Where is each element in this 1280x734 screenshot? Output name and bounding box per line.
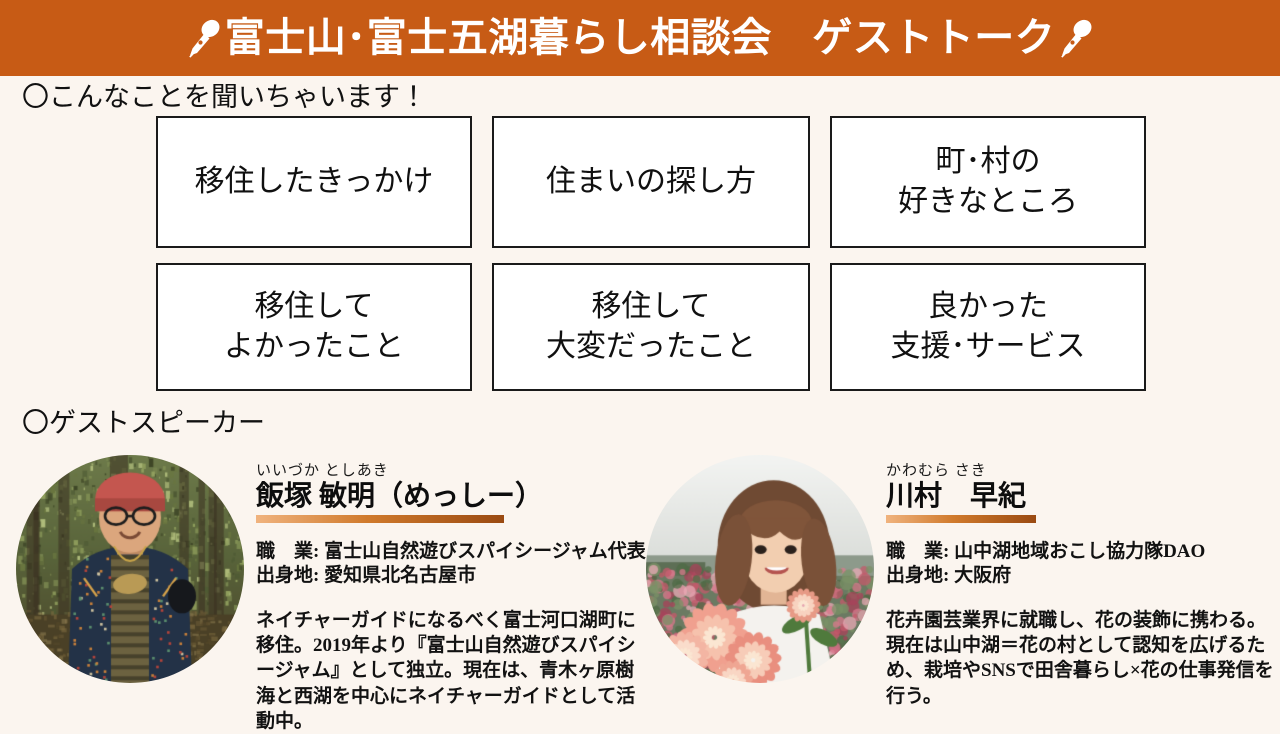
origin-label: 出身地: [886,565,949,586]
topic-box-0: 移住したきっかけ [156,116,472,248]
topic-box-3: 移住して よかったこと [156,263,472,391]
avatar-photo-flowerfield [646,455,874,683]
topic-box-label: 町･村の 好きなところ [898,142,1078,223]
name-underline-bar [886,515,1036,523]
topic-box-1: 住まいの探し方 [492,116,810,248]
speaker-name: 川村 早紀 [886,481,1280,513]
occupation-value: 山中湖地域おこし協力隊DAO [954,541,1205,562]
speaker-name: 飯塚 敏明（めっしー） [256,481,656,513]
topic-box-label: 住まいの探し方 [546,162,756,203]
speaker-meta-0: 職 業: 富士山自然遊びスパイシージャム代表 出身地: 愛知県北名古屋市 [256,540,656,589]
topic-box-label: 移住したきっかけ [195,162,434,203]
speaker-info-1: かわむら さき 川村 早紀 職 業: 山中湖地域おこし協力隊DAO 出身地: 大… [886,463,1280,709]
microphone-icon-right [1059,18,1093,58]
topic-box-grid: 移住したきっかけ 住まいの探し方 町･村の 好きなところ 移住して よかったこと… [156,116,1146,391]
page-title: 富士山･富士五湖暮らし相談会 ゲストトーク [225,18,1056,58]
origin-row: 出身地: 愛知県北名古屋市 [256,564,656,588]
speaker-bio: 花卉園芸業界に就職し、花の装飾に携わる。現在は山中湖＝花の村として認知を広げるた… [886,608,1276,708]
topics-section-heading: 〇こんなことを聞いちゃいます！ [22,84,427,111]
topic-box-2: 町･村の 好きなところ [830,116,1146,248]
occupation-label: 職 業: [886,541,949,562]
occupation-label: 職 業: [256,541,319,562]
occupation-row: 職 業: 富士山自然遊びスパイシージャム代表 [256,540,656,564]
speaker-meta-1: 職 業: 山中湖地域おこし協力隊DAO 出身地: 大阪府 [886,540,1280,589]
occupation-value: 富士山自然遊びスパイシージャム代表 [324,541,646,562]
speaker-furigana: かわむら さき [886,463,1280,480]
speaker-info-0: いいづか としあき 飯塚 敏明（めっしー） 職 業: 富士山自然遊びスパイシージ… [256,463,656,734]
origin-row: 出身地: 大阪府 [886,564,1280,588]
avatar-photo-forest [16,455,244,683]
topic-box-5: 良かった 支援･サービス [830,263,1146,391]
topic-box-label: 移住して 大変だったこと [546,287,756,368]
slide-root: 富士山･富士五湖暮らし相談会 ゲストトーク 〇こんなことを聞いちゃいます！ 移住… [0,0,1280,720]
occupation-row: 職 業: 山中湖地域おこし協力隊DAO [886,540,1280,564]
name-underline-bar [256,515,504,523]
origin-value: 大阪府 [954,565,1011,586]
speaker-bio: ネイチャーガイドになるべく富士河口湖町に移住。2019年より『富士山自然遊びスパ… [256,608,651,733]
topic-box-label: 移住して よかったこと [224,287,404,368]
header-bar: 富士山･富士五湖暮らし相談会 ゲストトーク [0,0,1280,76]
speakers-section-heading: 〇ゲストスピーカー [22,410,265,437]
speaker-avatar-0 [16,455,244,683]
header-inner: 富士山･富士五湖暮らし相談会 ゲストトーク [187,18,1094,58]
origin-value: 愛知県北名古屋市 [324,565,476,586]
microphone-icon-left [187,18,221,58]
speaker-avatar-1 [646,455,874,683]
topic-box-4: 移住して 大変だったこと [492,263,810,391]
speaker-furigana: いいづか としあき [256,463,656,480]
topic-box-label: 良かった 支援･サービス [891,287,1086,368]
origin-label: 出身地: [256,565,319,586]
